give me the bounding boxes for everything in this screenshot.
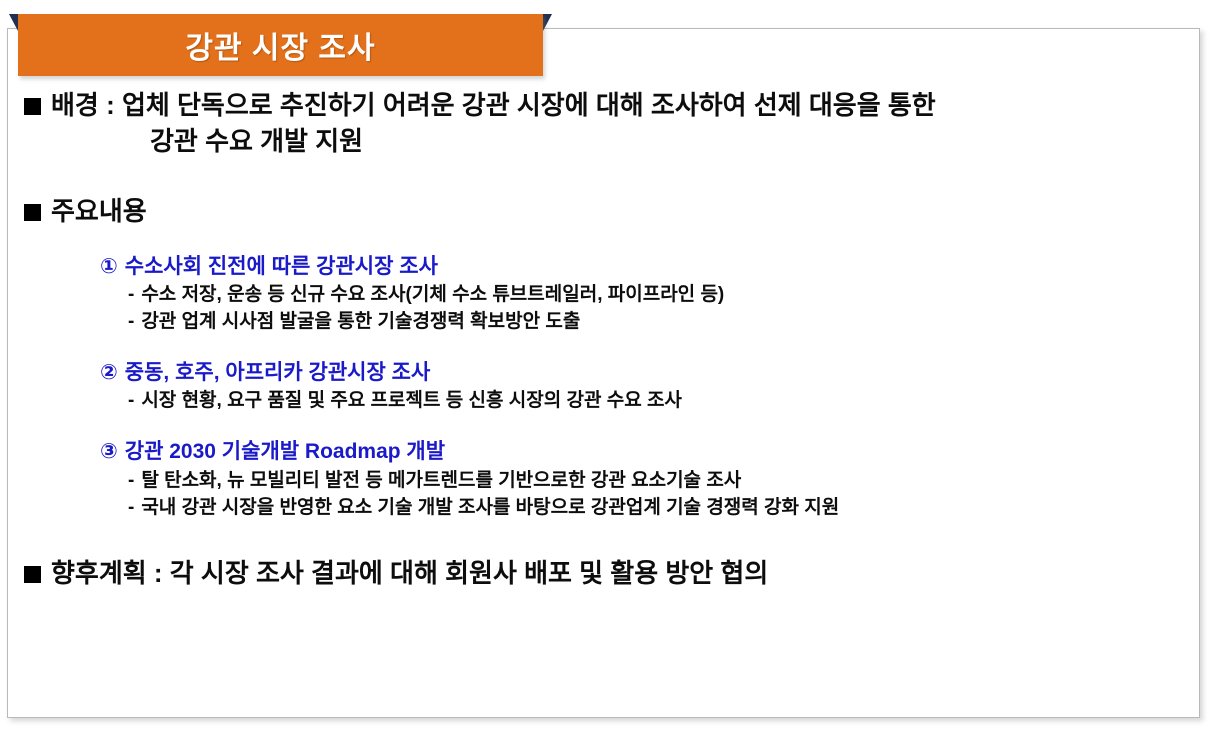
dash-bullet-icon: - xyxy=(128,390,134,411)
main-contents-heading-line: 주요내용 xyxy=(24,194,1184,230)
slide-title: 강관 시장 조사 xyxy=(185,23,375,67)
future-plan-heading-line: 향후계획 : 각 시장 조사 결과에 대해 회원사 배포 및 활용 방안 협의 xyxy=(24,556,1184,592)
square-bullet-icon xyxy=(24,98,41,115)
future-plan-line-1: 향후계획 : 각 시장 조사 결과에 대해 회원사 배포 및 활용 방안 협의 xyxy=(51,556,768,592)
dash-bullet-icon: - xyxy=(128,311,134,332)
slide-title-banner-fill: 강관 시장 조사 xyxy=(18,14,543,76)
item-3-sub-1-text: 탈 탄소화, 뉴 모빌리티 발전 등 메가트렌드를 기반으로한 강관 요소기술 … xyxy=(141,470,741,491)
main-content-item-3: ③강관 2030 기술개발 Roadmap 개발 -탈 탄소화, 뉴 모빌리티 … xyxy=(24,437,1184,521)
section-main-contents: 주요내용 xyxy=(24,194,1184,230)
item-2-sub-1: -시장 현황, 요구 품질 및 주요 프로젝트 등 신흥 시장의 강관 수요 조… xyxy=(24,388,1184,415)
item-1-number: ① xyxy=(100,255,118,278)
item-2-title: 중동, 호주, 아프리카 강관시장 조사 xyxy=(125,361,431,384)
section-background: 배경 : 업체 단독으로 추진하기 어려운 강관 시장에 대해 조사하여 선제 … xyxy=(24,88,1184,160)
background-line-2: 강관 수요 개발 지원 xyxy=(24,124,1184,160)
item-1-sub-1-text: 수소 저장, 운송 등 신규 수요 조사(기체 수소 튜브트레일러, 파이프라인… xyxy=(141,284,724,305)
slide-title-banner: 강관 시장 조사 xyxy=(18,14,543,76)
dash-bullet-icon: - xyxy=(128,284,134,305)
banner-right-corner-tab-icon xyxy=(543,14,552,31)
item-3-number: ③ xyxy=(100,440,118,463)
item-1-title-line: ①수소사회 진전에 따른 강관시장 조사 xyxy=(24,252,1184,282)
main-contents-heading: 주요내용 xyxy=(51,194,147,230)
item-1-title: 수소사회 진전에 따른 강관시장 조사 xyxy=(125,255,438,278)
slide-root: 강관 시장 조사 배경 : 업체 단독으로 추진하기 어려운 강관 시장에 대해… xyxy=(0,0,1220,737)
slide-content: 배경 : 업체 단독으로 추진하기 어려운 강관 시장에 대해 조사하여 선제 … xyxy=(24,88,1184,596)
main-content-item-2: ②중동, 호주, 아프리카 강관시장 조사 -시장 현황, 요구 품질 및 주요… xyxy=(24,358,1184,415)
dash-bullet-icon: - xyxy=(128,497,134,518)
item-1-sub-1: -수소 저장, 운송 등 신규 수요 조사(기체 수소 튜브트레일러, 파이프라… xyxy=(24,282,1184,309)
item-3-sub-1: -탈 탄소화, 뉴 모빌리티 발전 등 메가트렌드를 기반으로한 강관 요소기술… xyxy=(24,468,1184,495)
item-3-sub-2: -국내 강관 시장을 반영한 요소 기술 개발 조사를 바탕으로 강관업계 기술… xyxy=(24,495,1184,522)
section-future-plan: 향후계획 : 각 시장 조사 결과에 대해 회원사 배포 및 활용 방안 협의 xyxy=(24,556,1184,592)
item-3-title: 강관 2030 기술개발 Roadmap 개발 xyxy=(125,440,445,463)
item-2-number: ② xyxy=(100,361,118,384)
item-1-sub-2-text: 강관 업계 시사점 발굴을 통한 기술경쟁력 확보방안 도출 xyxy=(141,311,580,332)
item-2-title-line: ②중동, 호주, 아프리카 강관시장 조사 xyxy=(24,358,1184,388)
banner-left-corner-tab-icon xyxy=(9,14,18,31)
item-3-sub-2-text: 국내 강관 시장을 반영한 요소 기술 개발 조사를 바탕으로 강관업계 기술 … xyxy=(141,497,839,518)
background-line-1: 배경 : 업체 단독으로 추진하기 어려운 강관 시장에 대해 조사하여 선제 … xyxy=(51,88,936,124)
background-heading-line: 배경 : 업체 단독으로 추진하기 어려운 강관 시장에 대해 조사하여 선제 … xyxy=(24,88,1184,124)
main-content-item-1: ①수소사회 진전에 따른 강관시장 조사 -수소 저장, 운송 등 신규 수요 … xyxy=(24,252,1184,336)
item-3-title-line: ③강관 2030 기술개발 Roadmap 개발 xyxy=(24,437,1184,467)
square-bullet-icon xyxy=(24,566,41,583)
dash-bullet-icon: - xyxy=(128,470,134,491)
square-bullet-icon xyxy=(24,204,41,221)
item-1-sub-2: -강관 업계 시사점 발굴을 통한 기술경쟁력 확보방안 도출 xyxy=(24,309,1184,336)
item-2-sub-1-text: 시장 현황, 요구 품질 및 주요 프로젝트 등 신흥 시장의 강관 수요 조사 xyxy=(141,390,682,411)
